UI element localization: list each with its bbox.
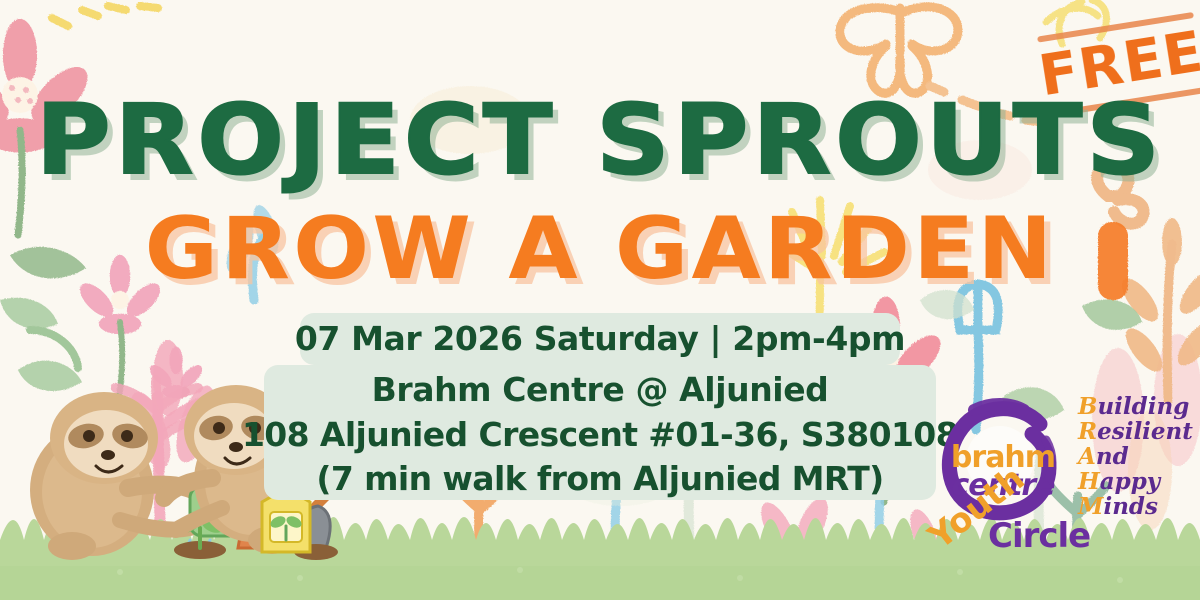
acrostic-rest-and: nd bbox=[1096, 443, 1129, 470]
poster-title-secondary: GROW A GARDEN bbox=[0, 206, 1200, 292]
logo-circle-text: Circle bbox=[988, 516, 1090, 556]
acrostic-cap-b: B bbox=[1078, 393, 1097, 420]
brahm-centre-youth-circle-logo: brahm centre Youth Circle bbox=[928, 388, 1078, 558]
acrostic-line-happy: Happy bbox=[1078, 469, 1198, 494]
acrostic-line-building: Building bbox=[1078, 394, 1198, 419]
acrostic-cap-m: M bbox=[1078, 493, 1103, 520]
acrostic-cap-a: A bbox=[1078, 443, 1096, 470]
acrostic-rest-building: uilding bbox=[1097, 393, 1189, 420]
seed-packet bbox=[262, 494, 310, 552]
acrostic-line-and: And bbox=[1078, 444, 1198, 469]
acrostic-cap-r: R bbox=[1078, 418, 1097, 445]
acrostic-rest-minds: inds bbox=[1103, 493, 1158, 520]
acrostic-line-resilient: Resilient bbox=[1078, 419, 1198, 444]
poster-title-primary: PROJECT SPROUTS bbox=[0, 92, 1200, 188]
acrostic-rest-happy: appy bbox=[1100, 468, 1160, 495]
acrostic-line-minds: Minds bbox=[1078, 494, 1198, 519]
brahm-acrostic: Building Resilient And Happy Minds bbox=[1078, 394, 1198, 519]
acrostic-rest-resilient: esilient bbox=[1097, 418, 1193, 445]
event-poster: FREE PROJECT SPROUTS GROW A GARDEN 07 Ma… bbox=[0, 0, 1200, 600]
event-date-time: 07 Mar 2026 Saturday | 2pm-4pm bbox=[0, 313, 1200, 365]
acrostic-cap-h: H bbox=[1078, 468, 1100, 495]
